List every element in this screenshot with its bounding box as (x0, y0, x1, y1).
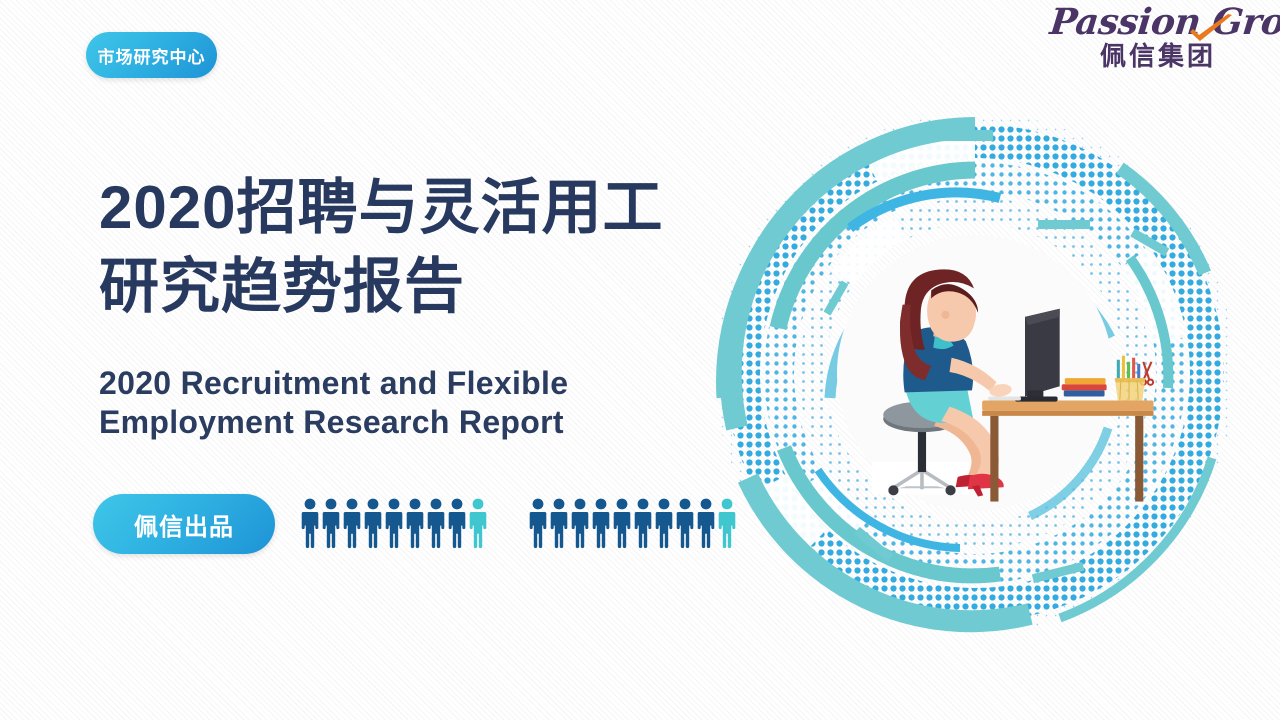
person-icon (426, 498, 446, 550)
produced-by-badge[interactable]: 佩信出品 (93, 494, 275, 554)
person-icon (384, 498, 404, 550)
person-icon (612, 498, 632, 550)
person-icon (570, 498, 590, 550)
page-title: 2020招聘与灵活用工 研究趋势报告 (99, 168, 739, 326)
slide-canvas: 市场研究中心 Passion Group 佩信集团 2020招聘与灵活用工 研究… (0, 0, 1280, 720)
page-subtitle: 2020 Recruitment and Flexible Employment… (99, 364, 659, 442)
person-icon (363, 498, 383, 550)
person-icon (591, 498, 611, 550)
person-icon (528, 498, 548, 550)
person-icon (549, 498, 569, 550)
subtitle-line-1: 2020 Recruitment and Flexible (99, 364, 659, 403)
person-icon (468, 498, 488, 550)
subtitle-line-2: Employment Research Report (99, 403, 659, 442)
person-icon (300, 498, 320, 550)
people-icon-rows (300, 498, 737, 550)
title-line-2: 研究趋势报告 (99, 247, 739, 326)
person-icon (321, 498, 341, 550)
person-icon (675, 498, 695, 550)
passion-group-logo: Passion Group 佩信集团 (1050, 4, 1266, 96)
person-icon (654, 498, 674, 550)
person-icon (405, 498, 425, 550)
person-icon (447, 498, 467, 550)
person-icon (633, 498, 653, 550)
people-group-1 (300, 498, 488, 550)
logo-chinese-text: 佩信集团 (1050, 36, 1266, 73)
title-line-1: 2020招聘与灵活用工 (99, 168, 739, 247)
person-icon (342, 498, 362, 550)
hero-illustration (700, 98, 1250, 648)
market-research-center-badge[interactable]: 市场研究中心 (86, 32, 217, 78)
